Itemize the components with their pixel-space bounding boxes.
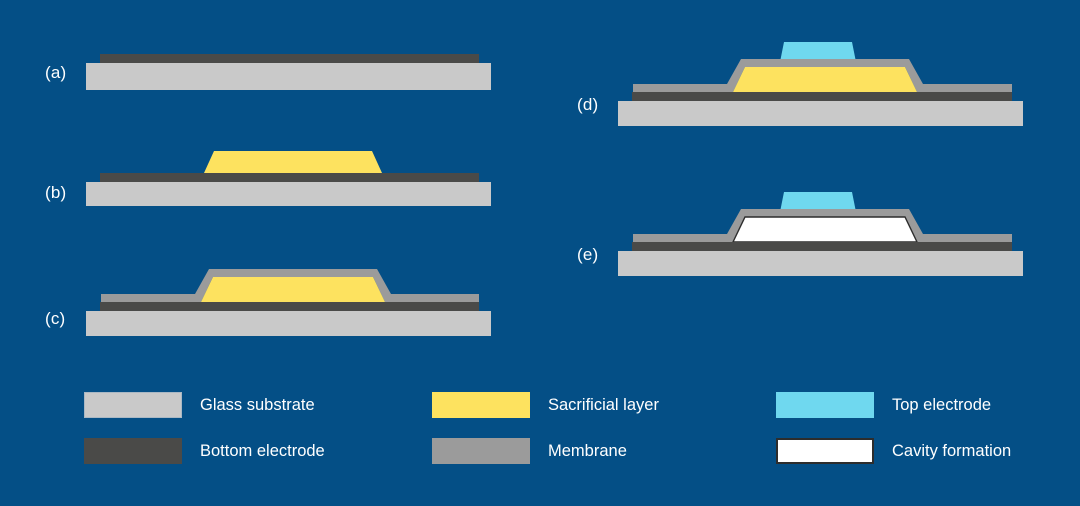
glass-substrate-layer [618,101,1023,126]
panel-d-cross-section [572,34,1032,126]
glass-substrate-layer [86,182,491,206]
legend: Glass substrate Bottom electrode Sacrifi… [84,392,1034,472]
cavity-formation-shape [733,217,917,242]
legend-item-bottom-electrode: Bottom electrode [84,438,325,464]
bottom-electrode-layer [100,302,479,311]
figure-canvas: (a) (b) (c) (d) [0,0,1080,506]
cavity-formation-swatch [776,438,874,464]
panel-b-cross-section [40,140,500,206]
bottom-electrode-layer [100,54,479,63]
legend-label-bottom-electrode: Bottom electrode [200,443,325,460]
panel-a: (a) [40,44,500,96]
panel-e-cross-section [572,184,1032,276]
glass-substrate-layer [618,251,1023,276]
panel-a-cross-section [40,44,500,96]
membrane-swatch [432,438,530,464]
legend-label-glass-substrate: Glass substrate [200,397,315,414]
panel-e: (e) [572,184,1032,276]
sacrificial-layer-shape [204,151,382,173]
sacrificial-layer-shape [201,277,385,302]
top-electrode-swatch [776,392,874,418]
bottom-electrode-swatch [84,438,182,464]
legend-item-glass-substrate: Glass substrate [84,392,315,418]
legend-item-membrane: Membrane [432,438,627,464]
legend-item-sacrificial-layer: Sacrificial layer [432,392,659,418]
panel-c-cross-section [40,260,500,336]
legend-label-top-electrode: Top electrode [892,397,991,414]
glass-substrate-swatch [84,392,182,418]
legend-label-cavity-formation: Cavity formation [892,443,1011,460]
glass-substrate-layer [86,63,491,90]
legend-label-membrane: Membrane [548,443,627,460]
legend-item-cavity-formation: Cavity formation [776,438,1011,464]
bottom-electrode-layer [632,92,1012,101]
panel-c: (c) [40,260,500,336]
sacrificial-layer-shape [733,67,917,92]
sacrificial-layer-swatch [432,392,530,418]
legend-item-top-electrode: Top electrode [776,392,991,418]
glass-substrate-layer [86,311,491,336]
bottom-electrode-layer [632,242,1012,251]
legend-label-sacrificial-layer: Sacrificial layer [548,397,659,414]
panel-b: (b) [40,140,500,206]
bottom-electrode-layer [100,173,479,182]
panel-d: (d) [572,34,1032,126]
